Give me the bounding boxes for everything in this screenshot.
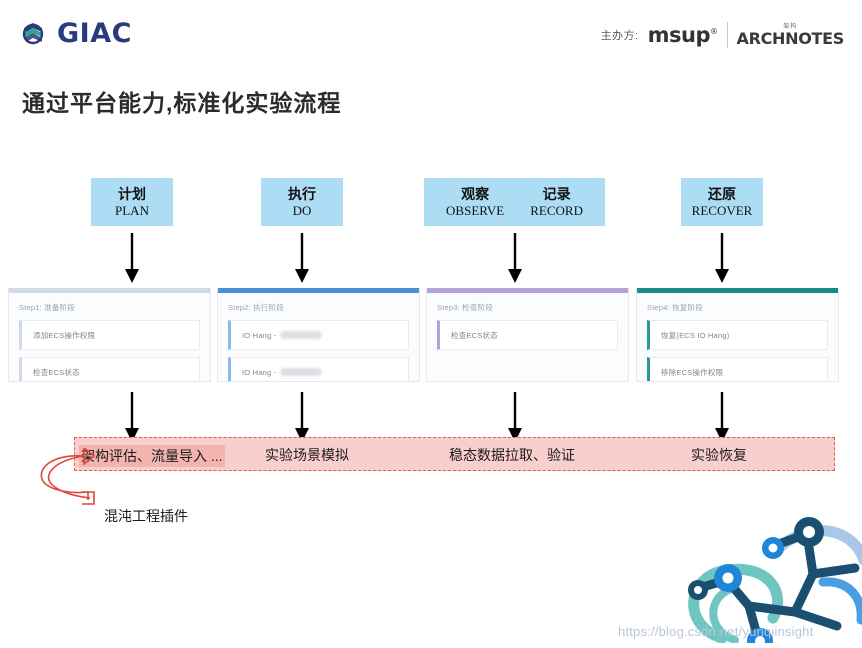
panel-title: Step3: 检查阶段 xyxy=(437,302,628,313)
panel-accent-bar xyxy=(9,288,210,293)
phase-box-do: 执行 DO xyxy=(261,178,343,226)
msup-registered-icon: ® xyxy=(710,27,718,36)
panel-title: Step4: 恢复阶段 xyxy=(647,302,838,313)
arrow-down-plan xyxy=(124,233,140,290)
phase-label-en: RECOVER xyxy=(692,203,753,219)
phase-label-en: DO xyxy=(293,203,312,219)
watermark: https://blog.csdn.net/yunqiinsight xyxy=(618,624,813,639)
arrow-down-do xyxy=(294,233,310,290)
phase-box-observe-record: 观察 OBSERVE 记录 RECORD xyxy=(424,178,605,226)
plugin-label: 混沌工程插件 xyxy=(104,506,188,526)
phase-label-cn: 计划 xyxy=(118,186,146,203)
giac-wordmark: GIAC xyxy=(57,18,132,49)
msup-wordmark: msup xyxy=(648,23,710,47)
phase-label-en: RECORD xyxy=(530,203,583,219)
phase-label-en: OBSERVE xyxy=(446,203,504,219)
arrow-down-observe xyxy=(507,233,523,290)
sponsor-logos: 主办方: msup® 架构 ARCHNOTES xyxy=(601,22,844,48)
panel-card[interactable]: 添加ECS操作权限 xyxy=(19,320,200,350)
giac-logo: GIAC xyxy=(20,18,132,49)
slide-canvas: GIAC 主办方: msup® 架构 ARCHNOTES 通过平台能力,标准化实… xyxy=(0,0,862,648)
panel-accent-bar xyxy=(218,288,419,293)
phase-label-cn: 执行 xyxy=(288,186,316,203)
arrow-down-recover xyxy=(714,233,730,290)
sponsor-label: 主办方: xyxy=(601,27,639,43)
phase-box-recover: 还原 RECOVER xyxy=(681,178,763,226)
phase-box-plan: 计划 PLAN xyxy=(91,178,173,226)
panel-card-label: 检查ECS状态 xyxy=(451,330,498,341)
panel-card[interactable]: 恢复(ECS IO Hang) xyxy=(647,320,828,350)
step-panel-4: Step4: 恢复阶段 恢复(ECS IO Hang) 移除ECS操作权限 xyxy=(636,288,839,382)
phase-label-cn: 记录 xyxy=(543,186,571,203)
phase-label-en: PLAN xyxy=(115,203,149,219)
band-item-4: 实验恢复 xyxy=(691,445,747,465)
activity-band: 架构评估、流量导入 ... 实验场景模拟 稳态数据拉取、验证 实验恢复 xyxy=(74,437,835,471)
step-panel-1: Step1: 准备阶段 添加ECS操作权限 检查ECS状态 xyxy=(8,288,211,382)
band-item-3: 稳态数据拉取、验证 xyxy=(449,445,575,465)
panel-card[interactable]: 移除ECS操作权限 xyxy=(647,357,828,382)
panel-accent-bar xyxy=(427,288,628,293)
redacted-value xyxy=(280,368,322,376)
panel-accent-bar xyxy=(637,288,838,293)
panel-card-label: 移除ECS操作权限 xyxy=(661,367,723,378)
panel-card-label: 添加ECS操作权限 xyxy=(33,330,95,341)
archnotes-logo: 架构 ARCHNOTES xyxy=(737,24,845,47)
panel-card-label: 恢复(ECS IO Hang) xyxy=(661,330,729,341)
panel-card[interactable]: IO Hang - xyxy=(228,357,409,382)
redacted-value xyxy=(280,331,322,339)
panel-card[interactable]: IO Hang - xyxy=(228,320,409,350)
panel-card-label: IO Hang - xyxy=(242,368,276,377)
panel-title: Step2: 执行阶段 xyxy=(228,302,419,313)
step-panel-2: Step2: 执行阶段 IO Hang - IO Hang - xyxy=(217,288,420,382)
archnotes-wordmark: ARCHNOTES xyxy=(737,31,845,47)
panel-card[interactable]: 检查ECS状态 xyxy=(19,357,200,382)
phase-col-observe: 观察 OBSERVE xyxy=(446,186,504,219)
curved-loop-arrow xyxy=(32,448,177,515)
phase-label-cn: 还原 xyxy=(708,186,736,203)
band-item-2: 实验场景模拟 xyxy=(265,445,349,465)
panel-title: Step1: 准备阶段 xyxy=(19,302,210,313)
page-title: 通过平台能力,标准化实验流程 xyxy=(22,84,341,118)
phase-label-cn: 观察 xyxy=(461,186,489,203)
step-panel-3: Step3: 检查阶段 检查ECS状态 xyxy=(426,288,629,382)
msup-logo: msup® xyxy=(648,23,718,47)
panel-card-label: 检查ECS状态 xyxy=(33,367,80,378)
sponsor-divider xyxy=(727,22,728,48)
phase-col-record: 记录 RECORD xyxy=(530,186,583,219)
panel-card[interactable]: 检查ECS状态 xyxy=(437,320,618,350)
giac-hexagon-icon xyxy=(20,19,50,49)
panel-card-label: IO Hang - xyxy=(242,331,276,340)
